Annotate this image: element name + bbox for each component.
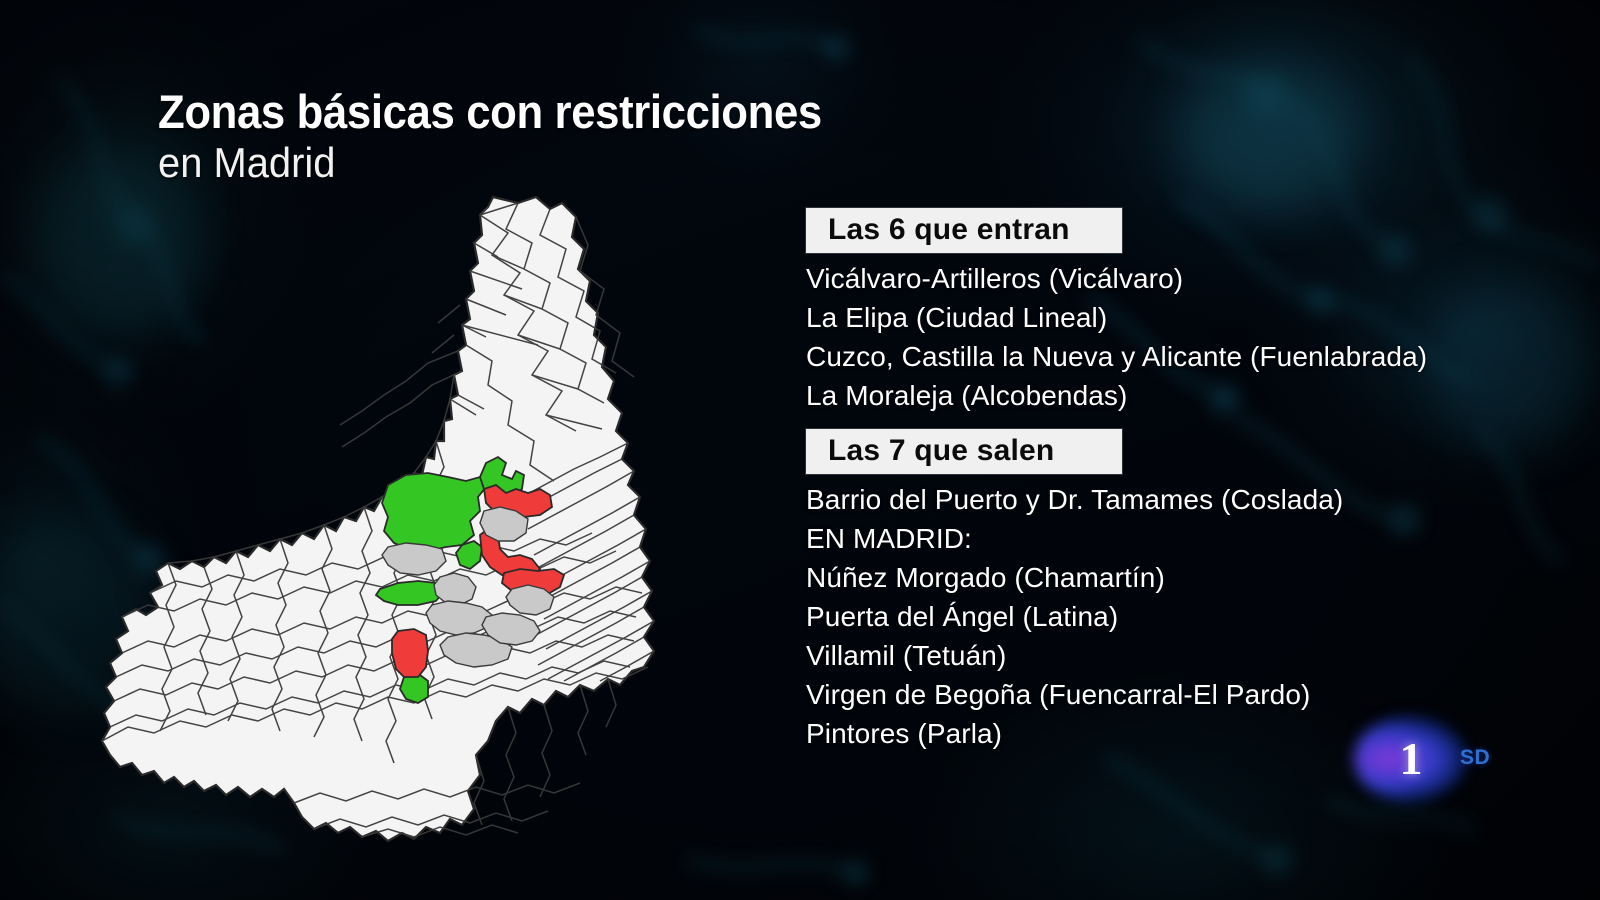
list-item: Villamil (Tetuán) bbox=[806, 636, 1546, 675]
list-item: Núñez Morgado (Chamartín) bbox=[806, 558, 1546, 597]
map-outline-group bbox=[102, 197, 654, 841]
zone-red-south-strip bbox=[392, 629, 428, 677]
section-leaving: Las 7 que salen Barrio del Puerto y Dr. … bbox=[806, 429, 1546, 753]
list-item: Vicálvaro-Artilleros (Vicálvaro) bbox=[806, 259, 1546, 298]
badge-leaving: Las 7 que salen bbox=[806, 429, 1122, 474]
page-title-line-1: Zonas básicas con restricciones bbox=[158, 86, 822, 138]
list-item: Cuzco, Castilla la Nueva y Alicante (Fue… bbox=[806, 337, 1546, 376]
badge-entering: Las 6 que entran bbox=[806, 208, 1122, 253]
list-item: EN MADRID: bbox=[806, 519, 1546, 558]
page-title: Zonas básicas con restricciones en Madri… bbox=[158, 86, 872, 186]
list-item: Puerta del Ángel (Latina) bbox=[806, 597, 1546, 636]
map-svg bbox=[88, 185, 678, 865]
list-item: La Moraleja (Alcobendas) bbox=[806, 376, 1546, 415]
list-item: Barrio del Puerto y Dr. Tamames (Coslada… bbox=[806, 480, 1546, 519]
channel-logo: 1 SD bbox=[1368, 728, 1528, 788]
section-entering: Las 6 que entran Vicálvaro-Artilleros (V… bbox=[806, 208, 1546, 415]
madrid-silhouette bbox=[102, 197, 654, 841]
list-item: La Elipa (Ciudad Lineal) bbox=[806, 298, 1546, 337]
list-entering: Vicálvaro-Artilleros (Vicálvaro) La Elip… bbox=[806, 259, 1546, 415]
channel-number: 1 bbox=[1368, 729, 1454, 787]
page-title-line-2: en Madrid bbox=[158, 140, 836, 186]
list-leaving: Barrio del Puerto y Dr. Tamames (Coslada… bbox=[806, 480, 1546, 753]
madrid-region-map bbox=[88, 185, 678, 865]
broadcast-graphic-screen: Zonas básicas con restricciones en Madri… bbox=[0, 0, 1600, 900]
quality-badge: SD bbox=[1460, 746, 1490, 770]
list-item: Virgen de Begoña (Fuencarral-El Pardo) bbox=[806, 675, 1546, 714]
restrictions-panel: Las 6 que entran Vicálvaro-Artilleros (V… bbox=[806, 208, 1546, 753]
